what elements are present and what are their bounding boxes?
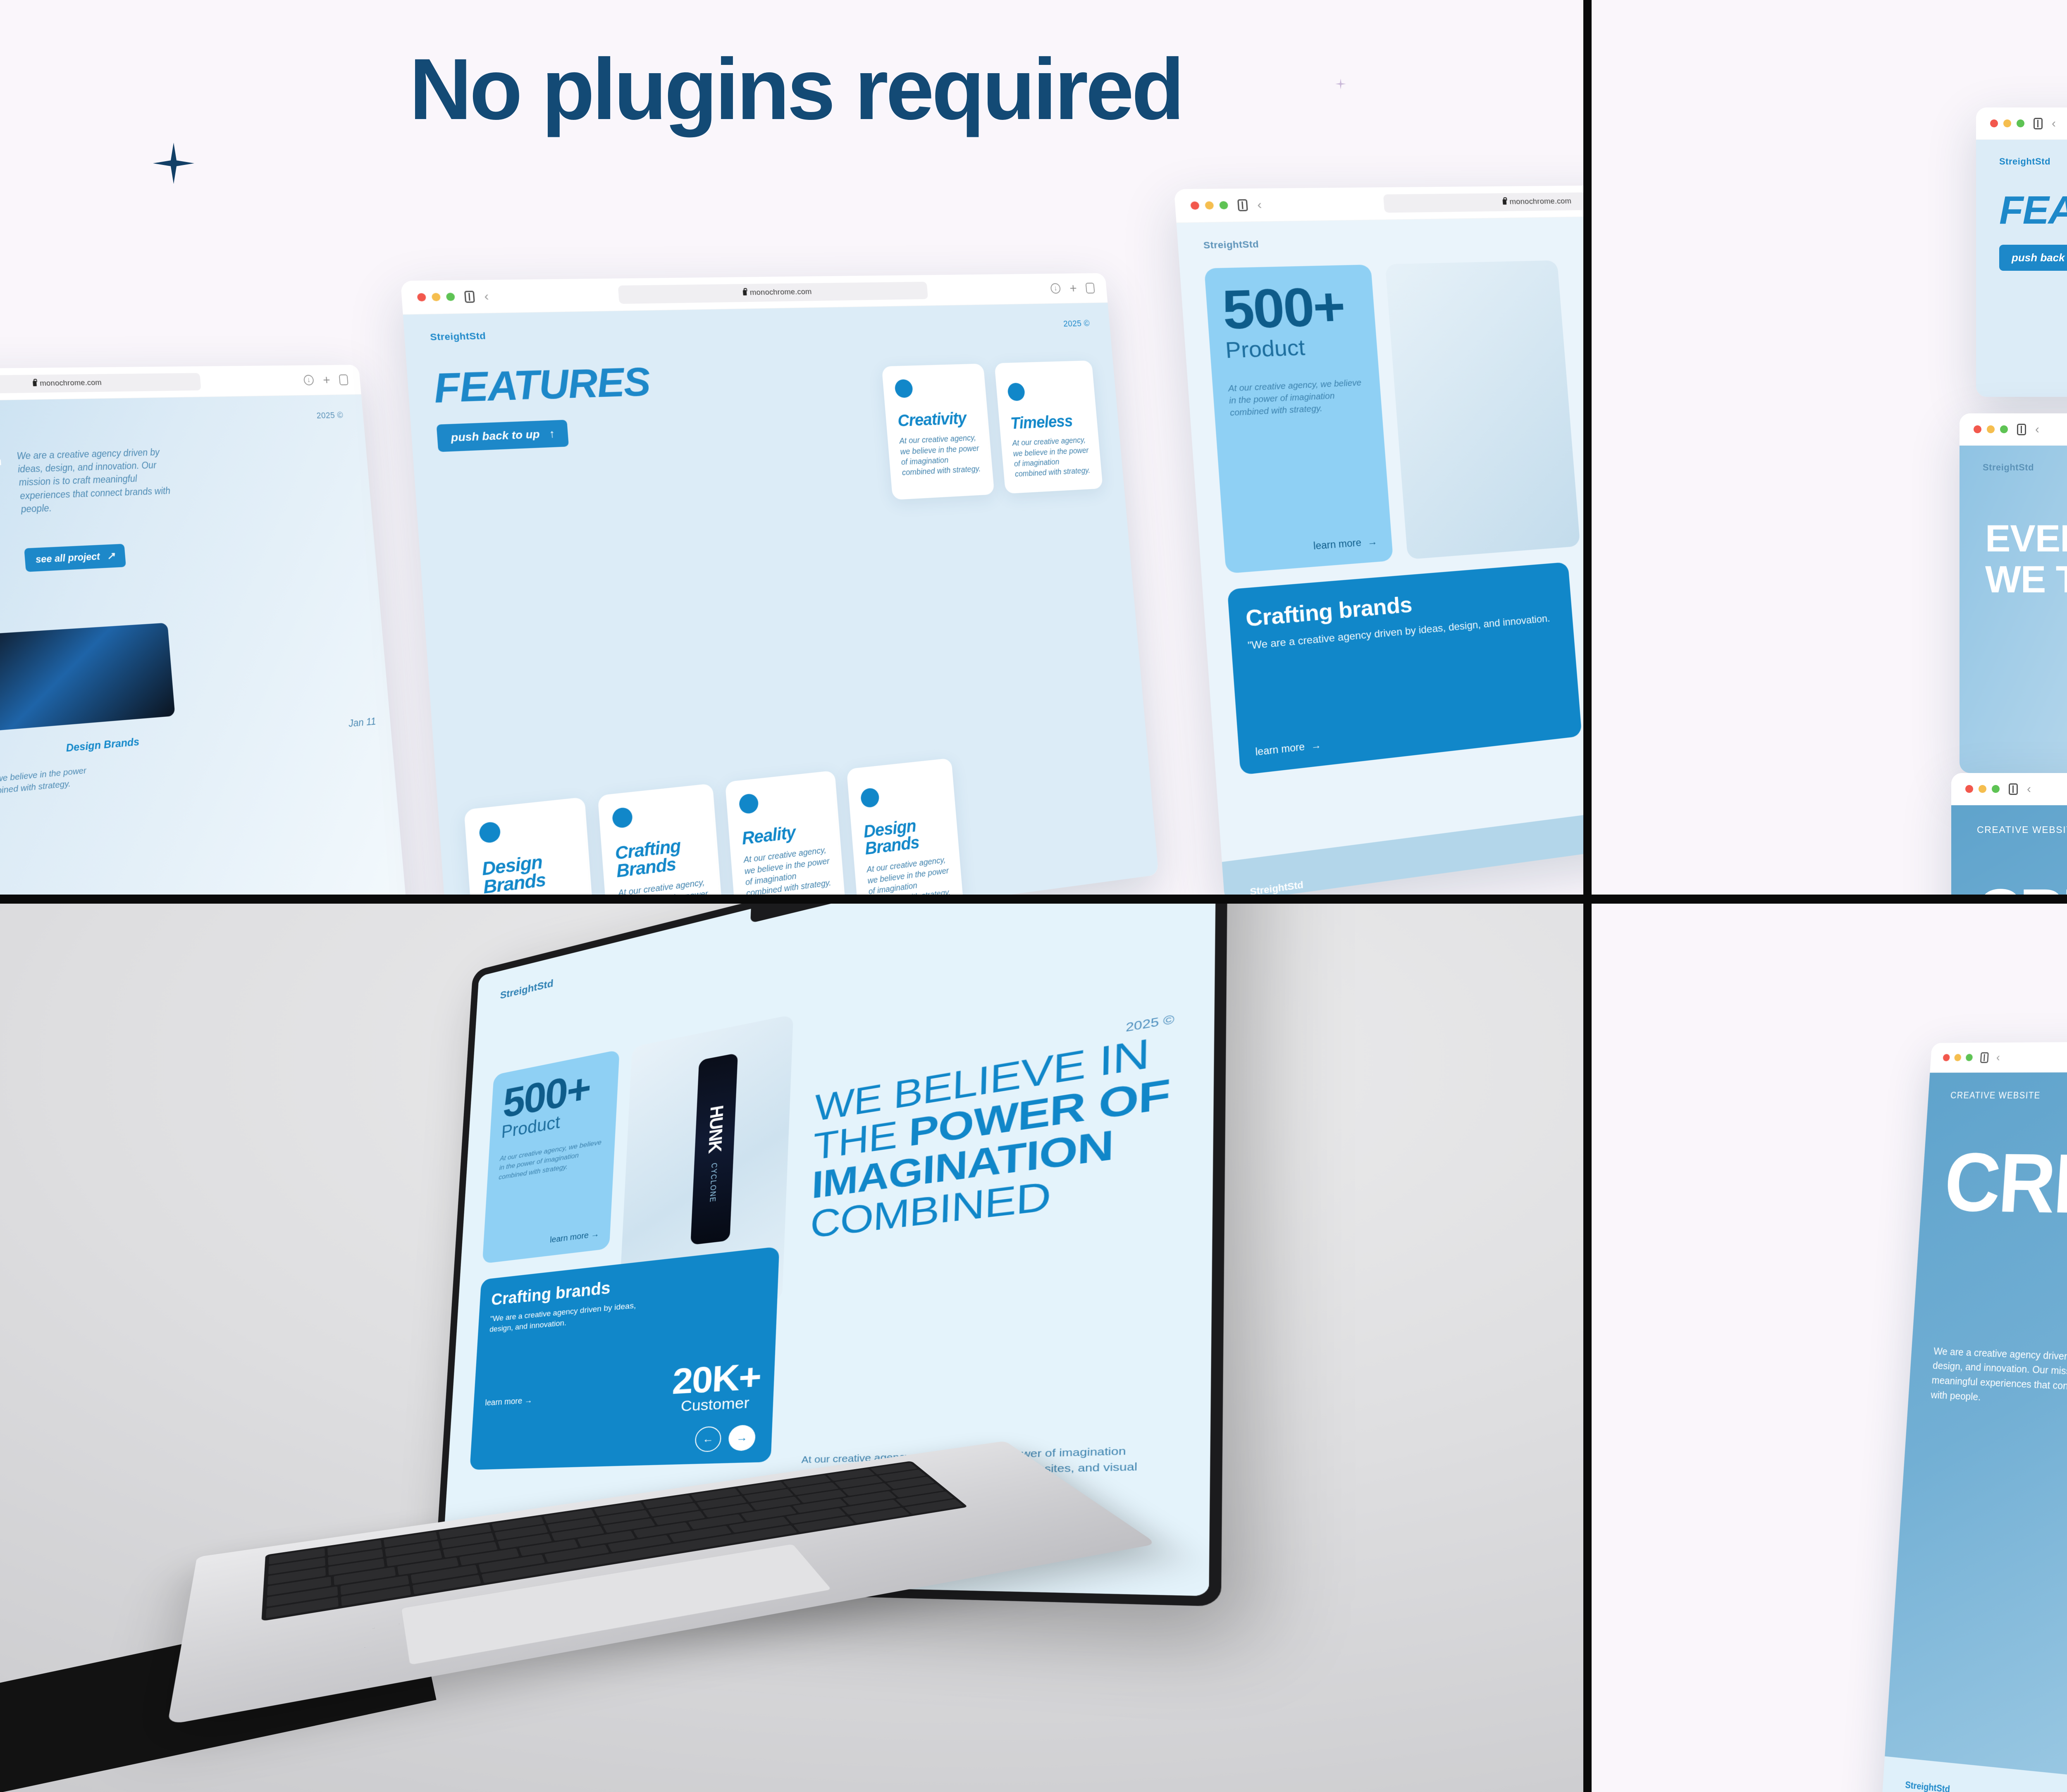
arrow-right-icon: → bbox=[1310, 739, 1322, 752]
sidebar-icon[interactable] bbox=[464, 291, 475, 303]
traffic-lights[interactable] bbox=[417, 293, 455, 301]
panel-top-left: No plugins required ‹ monochrome.com bbox=[0, 0, 1583, 895]
back-chevron-icon[interactable]: ‹ bbox=[1996, 1052, 2000, 1063]
download-icon[interactable] bbox=[1050, 283, 1061, 293]
stats-row: 500+ Product At our creative agency, we … bbox=[1179, 238, 1583, 575]
features-page: StreightStd 2025 © FEATURES push back to… bbox=[403, 303, 1159, 895]
bullet-dot-icon bbox=[860, 787, 880, 809]
sidebar-icon[interactable] bbox=[1237, 199, 1248, 211]
laptop-headline: WE BELIEVE IN THE POWER OF IMAGINATION C… bbox=[809, 1028, 1173, 1244]
creative-para-left: We are a creative agency driven by ideas… bbox=[1930, 1344, 2067, 1412]
features-heading: FEATURES bbox=[1999, 188, 2067, 233]
product-image bbox=[1385, 260, 1580, 560]
sparkle-icon bbox=[153, 143, 194, 184]
footer-brand: StreightStd bbox=[1905, 1780, 1950, 1792]
download-icon[interactable] bbox=[303, 375, 314, 385]
stat-body: At our creative agency, we believe in th… bbox=[499, 1137, 603, 1183]
url-text: monochrome.com bbox=[40, 378, 102, 388]
crafting-brands-card[interactable]: Crafting brands "We are a creative agenc… bbox=[1227, 562, 1582, 775]
every-project-heading: EVERY PROJECT WE TAKE IS A bbox=[1985, 518, 2067, 601]
creative-line-1: CREATIVE bbox=[1942, 1145, 2067, 1237]
browser-window-creative-large[interactable]: ‹ monochrome.com + CREATIVE WEBSITE STRE… bbox=[1878, 1037, 2067, 1792]
see-all-project-button[interactable]: see all project ↗ bbox=[24, 544, 126, 572]
product-name: HUNK bbox=[704, 1104, 726, 1154]
stat-body: At our creative agency, we believe in th… bbox=[1228, 377, 1368, 420]
features-page: StreightStd 2025 © FEATURES push back to… bbox=[1976, 140, 2067, 397]
push-back-label: push back to up bbox=[2012, 251, 2067, 264]
feature-card[interactable]: Creativity At our creative agency, we be… bbox=[882, 363, 995, 500]
bullet-dot-icon bbox=[1007, 383, 1025, 401]
browser-window-every-project[interactable]: ‹ monochrome.com + StreightStd 2025 © bbox=[1960, 413, 2067, 773]
back-chevron-icon[interactable]: ‹ bbox=[2027, 783, 2031, 795]
creative-nav: CREATIVE WEBSITE STREIGHT.STD 2025 © bbox=[1951, 805, 2067, 835]
page-footer: StreightStd bbox=[1222, 773, 1583, 895]
product-bottle: HUNK CYCLONE bbox=[691, 1053, 738, 1245]
arrow-up-icon: ↑ bbox=[549, 427, 555, 441]
learn-more-link[interactable]: learn more → bbox=[550, 1229, 599, 1245]
arrow-up-right-icon: ↗ bbox=[107, 550, 116, 562]
laptop-left-column: 500+ Product At our creative agency, we … bbox=[482, 1015, 789, 1264]
every-heading-line2: WE TAKE IS A bbox=[1985, 559, 2067, 600]
nav-creative-website[interactable]: CREATIVE WEBSITE bbox=[1950, 1090, 2041, 1101]
feature-card-title: Design Brands bbox=[481, 849, 578, 895]
page-footer: StreightStd 2025 © 500+ bbox=[1878, 1756, 2067, 1792]
site-brand: StreightStd bbox=[1983, 462, 2034, 473]
features-cards-top: Creativity At our creative agency, we be… bbox=[882, 360, 1103, 500]
laptop-mockup[interactable]: StreightStd 2025 © 500+ Product At our c… bbox=[178, 941, 1170, 1768]
stat-card-product[interactable]: 500+ Product At our creative agency, we … bbox=[1204, 265, 1393, 574]
site-brand: StreightStd bbox=[1999, 156, 2050, 167]
laptop-brand: StreightStd bbox=[500, 977, 554, 1002]
url-text: monochrome.com bbox=[1509, 197, 1572, 206]
browser-window-creative[interactable]: ‹ monochrome.com + CREATIVE WEBSITE STRE… bbox=[1951, 773, 2067, 895]
learn-more-label: learn more bbox=[485, 1396, 523, 1408]
project-date-right: Jan 11 bbox=[348, 715, 376, 730]
plus-icon[interactable]: + bbox=[1069, 284, 1077, 292]
traffic-lights[interactable] bbox=[1990, 119, 2024, 127]
creative-nav: CREATIVE WEBSITE STREIGHT.STD 2025 © bbox=[1928, 1071, 2067, 1102]
site-year: 2025 © bbox=[1063, 318, 1090, 329]
carousel-next-icon[interactable]: → bbox=[728, 1425, 756, 1451]
learn-more-link[interactable]: learn more → bbox=[1255, 739, 1322, 758]
creative-paragraphs: We are a creative agency driven by ideas… bbox=[1908, 1297, 2067, 1446]
site-brand: StreightStd bbox=[430, 330, 486, 343]
creative-website-page: CREATIVE WEBSITE STREIGHT.STD 2025 © CRE… bbox=[1951, 805, 2067, 895]
traffic-lights[interactable] bbox=[1974, 425, 2008, 433]
learn-more-label: learn more bbox=[1255, 741, 1305, 758]
feature-card-title: Crafting Brands bbox=[614, 834, 707, 880]
bullet-dot-icon bbox=[479, 821, 501, 844]
project-paragraph: We are a creative agency driven by ideas… bbox=[16, 445, 187, 516]
bullet-dot-icon bbox=[612, 807, 633, 829]
product-sub: CYCLONE bbox=[708, 1162, 718, 1203]
carousel-controls: ← → bbox=[695, 1425, 756, 1452]
lock-icon bbox=[33, 381, 37, 386]
feature-card[interactable]: Reality At our creative agency, we belie… bbox=[725, 771, 847, 895]
feature-card-body: At our creative agency, we believe in th… bbox=[743, 845, 832, 895]
customer-stat: 20K+ Customer bbox=[671, 1360, 761, 1416]
arrow-right-icon: → bbox=[591, 1229, 599, 1240]
every-project-page: StreightStd 2025 © EVERY PROJECT WE TAKE… bbox=[1960, 446, 2067, 773]
sidebar-icon[interactable] bbox=[2017, 424, 2026, 435]
nav-creative-website[interactable]: CREATIVE WEBSITE bbox=[1977, 824, 2067, 835]
sparkle-icon bbox=[1335, 79, 1346, 89]
push-back-to-up-button[interactable]: push back to up ↑ bbox=[437, 420, 569, 452]
project-image-watch[interactable] bbox=[0, 623, 175, 732]
feature-card-body: At our creative agency, we believe in th… bbox=[866, 854, 952, 895]
panel-bottom-right: ‹ monochrome.com + CREATIVE WEBSITE STRE… bbox=[1592, 904, 2067, 1792]
crafting-brands-card[interactable]: Crafting brands "We are a creative agenc… bbox=[470, 1246, 779, 1470]
learn-more-label: learn more bbox=[550, 1231, 589, 1245]
project-caption: At our creative agency, we believe in th… bbox=[0, 764, 92, 806]
feature-card-title: Timeless bbox=[1010, 412, 1087, 431]
project-item-title: Design Brands bbox=[65, 735, 140, 754]
lock-icon bbox=[1503, 199, 1507, 205]
arrow-right-icon: → bbox=[1367, 536, 1377, 548]
every-heading-line1: EVERY PROJECT bbox=[1985, 518, 2067, 559]
arrow-right-icon: → bbox=[524, 1396, 532, 1405]
laptop-scene: StreightStd 2025 © 500+ Product At our c… bbox=[0, 904, 1583, 1792]
stat-card-product[interactable]: 500+ Product At our creative agency, we … bbox=[482, 1050, 620, 1264]
traffic-lights[interactable] bbox=[1190, 201, 1228, 210]
bullet-dot-icon bbox=[894, 379, 913, 398]
feature-card[interactable]: Design Brands At our creative agency, we… bbox=[847, 758, 964, 895]
creative-line-1: CREATIVE bbox=[1977, 883, 2067, 895]
feature-card[interactable]: Timeless At our creative agency, we beli… bbox=[994, 360, 1103, 494]
site-brand: StreightStd bbox=[1203, 239, 1259, 251]
stat-label: Product bbox=[1224, 333, 1363, 364]
features-cards-bottom: Design Brands At our creative agency, we… bbox=[464, 740, 1138, 895]
site-year: 2025 © bbox=[316, 410, 344, 420]
panel-top-right: ‹ monochrome.com + StreightStd 2025 © FE… bbox=[1592, 0, 2067, 895]
sidebar-icon[interactable] bbox=[2009, 783, 2018, 795]
showcase-canvas: No plugins required ‹ monochrome.com bbox=[0, 0, 2067, 1792]
push-back-to-up-button[interactable]: push back to up ↑ bbox=[1999, 245, 2067, 271]
learn-more-link[interactable]: learn more → bbox=[485, 1396, 533, 1408]
feature-card-body: At our creative agency, we believe in th… bbox=[1012, 435, 1091, 480]
feature-card[interactable]: Crafting Brands At our creative agency, … bbox=[598, 783, 725, 895]
see-all-project-label: see all project bbox=[35, 551, 100, 566]
stat-number: 500+ bbox=[1221, 282, 1361, 335]
page-title: No plugins required bbox=[409, 39, 1182, 139]
feature-card-body: At our creative agency, we believe in th… bbox=[618, 877, 711, 895]
push-back-label: push back to up bbox=[451, 427, 540, 444]
feature-card-title: Reality bbox=[741, 820, 828, 847]
url-text: monochrome.com bbox=[749, 287, 812, 297]
learn-more-label: learn more bbox=[1313, 537, 1362, 552]
address-bar[interactable]: monochrome.com bbox=[1383, 191, 1583, 213]
footer-brand: StreightStd bbox=[1250, 879, 1304, 895]
creative-title: CREATIVE WEBSITE bbox=[1951, 883, 2067, 895]
sidebar-icon[interactable] bbox=[2034, 118, 2043, 129]
browser-chrome: ‹ monochrome.com + bbox=[1951, 773, 2067, 805]
browser-window-features-stacked[interactable]: ‹ monochrome.com + StreightStd 2025 © FE… bbox=[1976, 107, 2067, 397]
feature-card-title: Design Brands bbox=[863, 814, 947, 857]
copy-icon[interactable] bbox=[1086, 282, 1095, 293]
back-chevron-icon[interactable]: ‹ bbox=[484, 290, 489, 303]
lock-icon bbox=[743, 290, 747, 296]
sidebar-icon[interactable] bbox=[1980, 1052, 1989, 1063]
stats-page: StreightStd 500+ Product At our creative… bbox=[1177, 213, 1583, 895]
creative-website-page: CREATIVE WEBSITE STREIGHT.STD 2025 © CRE… bbox=[1878, 1071, 2067, 1792]
traffic-lights[interactable] bbox=[1943, 1054, 1973, 1061]
carousel-prev-icon[interactable]: ← bbox=[695, 1426, 722, 1453]
browser-window-stats[interactable]: ‹ monochrome.com + StreightStd 500+ Prod… bbox=[1174, 183, 1583, 895]
browser-chrome: ‹ monochrome.com + bbox=[1976, 107, 2067, 140]
panel-bottom-left: StreightStd 2025 © 500+ Product At our c… bbox=[0, 904, 1583, 1792]
browser-chrome: ‹ monochrome.com + bbox=[1960, 413, 2067, 446]
address-bar[interactable]: monochrome.com bbox=[618, 282, 928, 304]
browser-window-project[interactable]: ‹ monochrome.com + StreightStd 2025 © PR bbox=[0, 365, 410, 895]
learn-more-link[interactable]: learn more → bbox=[1313, 536, 1377, 552]
browser-chrome: ‹ monochrome.com + bbox=[1174, 183, 1583, 223]
customer-number: 20K+ bbox=[671, 1360, 761, 1398]
bullet-dot-icon bbox=[738, 793, 759, 814]
browser-window-features[interactable]: ‹ monochrome.com + StreightStd 2025 © FE… bbox=[401, 273, 1159, 895]
plus-icon[interactable]: + bbox=[322, 376, 330, 384]
copy-icon[interactable] bbox=[339, 374, 348, 385]
back-chevron-icon[interactable]: ‹ bbox=[2052, 117, 2056, 130]
project-page: StreightStd 2025 © PROJECT A We are a cr… bbox=[0, 394, 410, 895]
feature-card-body: At our creative agency, we believe in th… bbox=[899, 433, 982, 478]
browser-chrome: ‹ monochrome.com + bbox=[1930, 1037, 2067, 1073]
address-bar[interactable]: monochrome.com bbox=[0, 373, 201, 394]
traffic-lights[interactable] bbox=[1965, 785, 2000, 793]
back-chevron-icon[interactable]: ‹ bbox=[2035, 423, 2039, 436]
back-chevron-icon[interactable]: ‹ bbox=[1257, 198, 1262, 211]
feature-card-title: Creativity bbox=[897, 409, 978, 429]
feature-card[interactable]: Design Brands At our creative agency, we… bbox=[464, 797, 597, 895]
